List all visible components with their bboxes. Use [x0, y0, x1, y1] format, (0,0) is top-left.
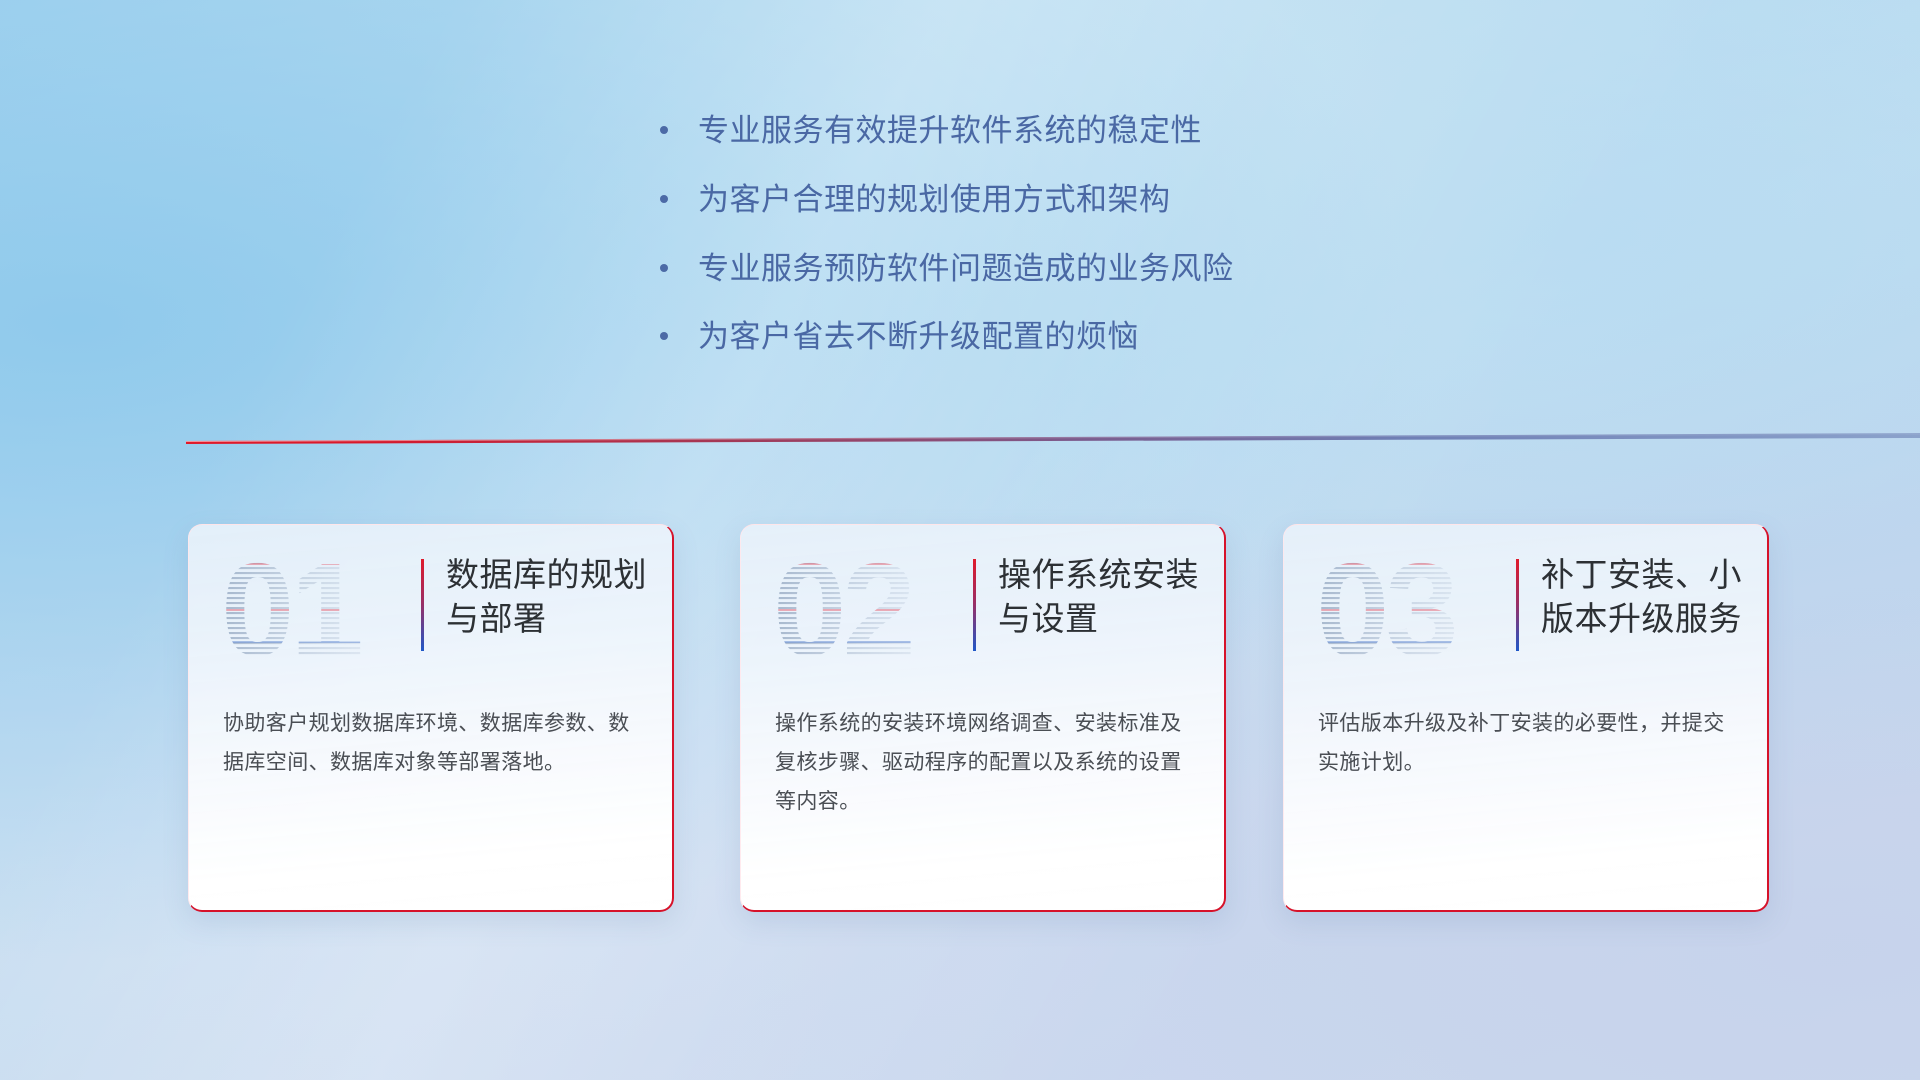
- card-accent-rule-icon: [973, 559, 976, 651]
- bullet-item: 为客户合理的规划使用方式和架构: [660, 181, 1234, 220]
- service-card[interactable]: 03 补丁安装、小版本升级服务 评估版本升级及补丁安装的必要性，并提交实施计划。: [1283, 524, 1769, 912]
- card-description: 协助客户规划数据库环境、数据库参数、数据库空间、数据库对象等部署落地。: [223, 705, 644, 783]
- bullet-label: 专业服务预防软件问题造成的业务风险: [698, 250, 1234, 289]
- card-header: 补丁安装、小版本升级服务: [1516, 553, 1745, 651]
- card-number-watermark-icon: 01: [221, 547, 421, 675]
- bullet-item: 专业服务有效提升软件系统的稳定性: [660, 112, 1234, 151]
- card-number-watermark-icon: 03: [1316, 547, 1516, 675]
- bullet-dot-icon: [660, 195, 668, 203]
- card-title: 数据库的规划与部署: [446, 553, 650, 640]
- card-accent-rule-icon: [1516, 559, 1519, 651]
- bullet-label: 为客户合理的规划使用方式和架构: [698, 181, 1171, 220]
- bullet-item: 专业服务预防软件问题造成的业务风险: [660, 250, 1234, 289]
- service-card-grid: 01 数据库的规划与部署 协助客户规划数据库环境、数据库参数、数据库空间、数据库…: [0, 524, 1920, 924]
- benefit-bullet-list: 专业服务有效提升软件系统的稳定性 为客户合理的规划使用方式和架构 专业服务预防软…: [660, 112, 1234, 357]
- bullet-label: 专业服务有效提升软件系统的稳定性: [698, 112, 1202, 151]
- card-header: 数据库的规划与部署: [421, 553, 650, 651]
- card-title: 操作系统安装与设置: [998, 553, 1202, 640]
- card-accent-rule-icon: [421, 559, 424, 651]
- service-card[interactable]: 02 操作系统安装与设置 操作系统的安装环境网络调查、安装标准及复核步骤、驱动程…: [740, 524, 1226, 912]
- card-description: 评估版本升级及补丁安装的必要性，并提交实施计划。: [1318, 705, 1739, 783]
- card-number-watermark-icon: 02: [773, 547, 973, 675]
- section-divider: [0, 420, 1920, 446]
- card-title: 补丁安装、小版本升级服务: [1541, 553, 1745, 640]
- slide-canvas: 专业服务有效提升软件系统的稳定性 为客户合理的规划使用方式和架构 专业服务预防软…: [0, 0, 1920, 1080]
- bullet-dot-icon: [660, 332, 668, 340]
- bullet-dot-icon: [660, 126, 668, 134]
- bullet-item: 为客户省去不断升级配置的烦恼: [660, 318, 1234, 357]
- bullet-label: 为客户省去不断升级配置的烦恼: [698, 318, 1139, 357]
- card-header: 操作系统安装与设置: [973, 553, 1202, 651]
- bullet-dot-icon: [660, 264, 668, 272]
- card-description: 操作系统的安装环境网络调查、安装标准及复核步骤、驱动程序的配置以及系统的设置等内…: [775, 705, 1196, 822]
- service-card[interactable]: 01 数据库的规划与部署 协助客户规划数据库环境、数据库参数、数据库空间、数据库…: [188, 524, 674, 912]
